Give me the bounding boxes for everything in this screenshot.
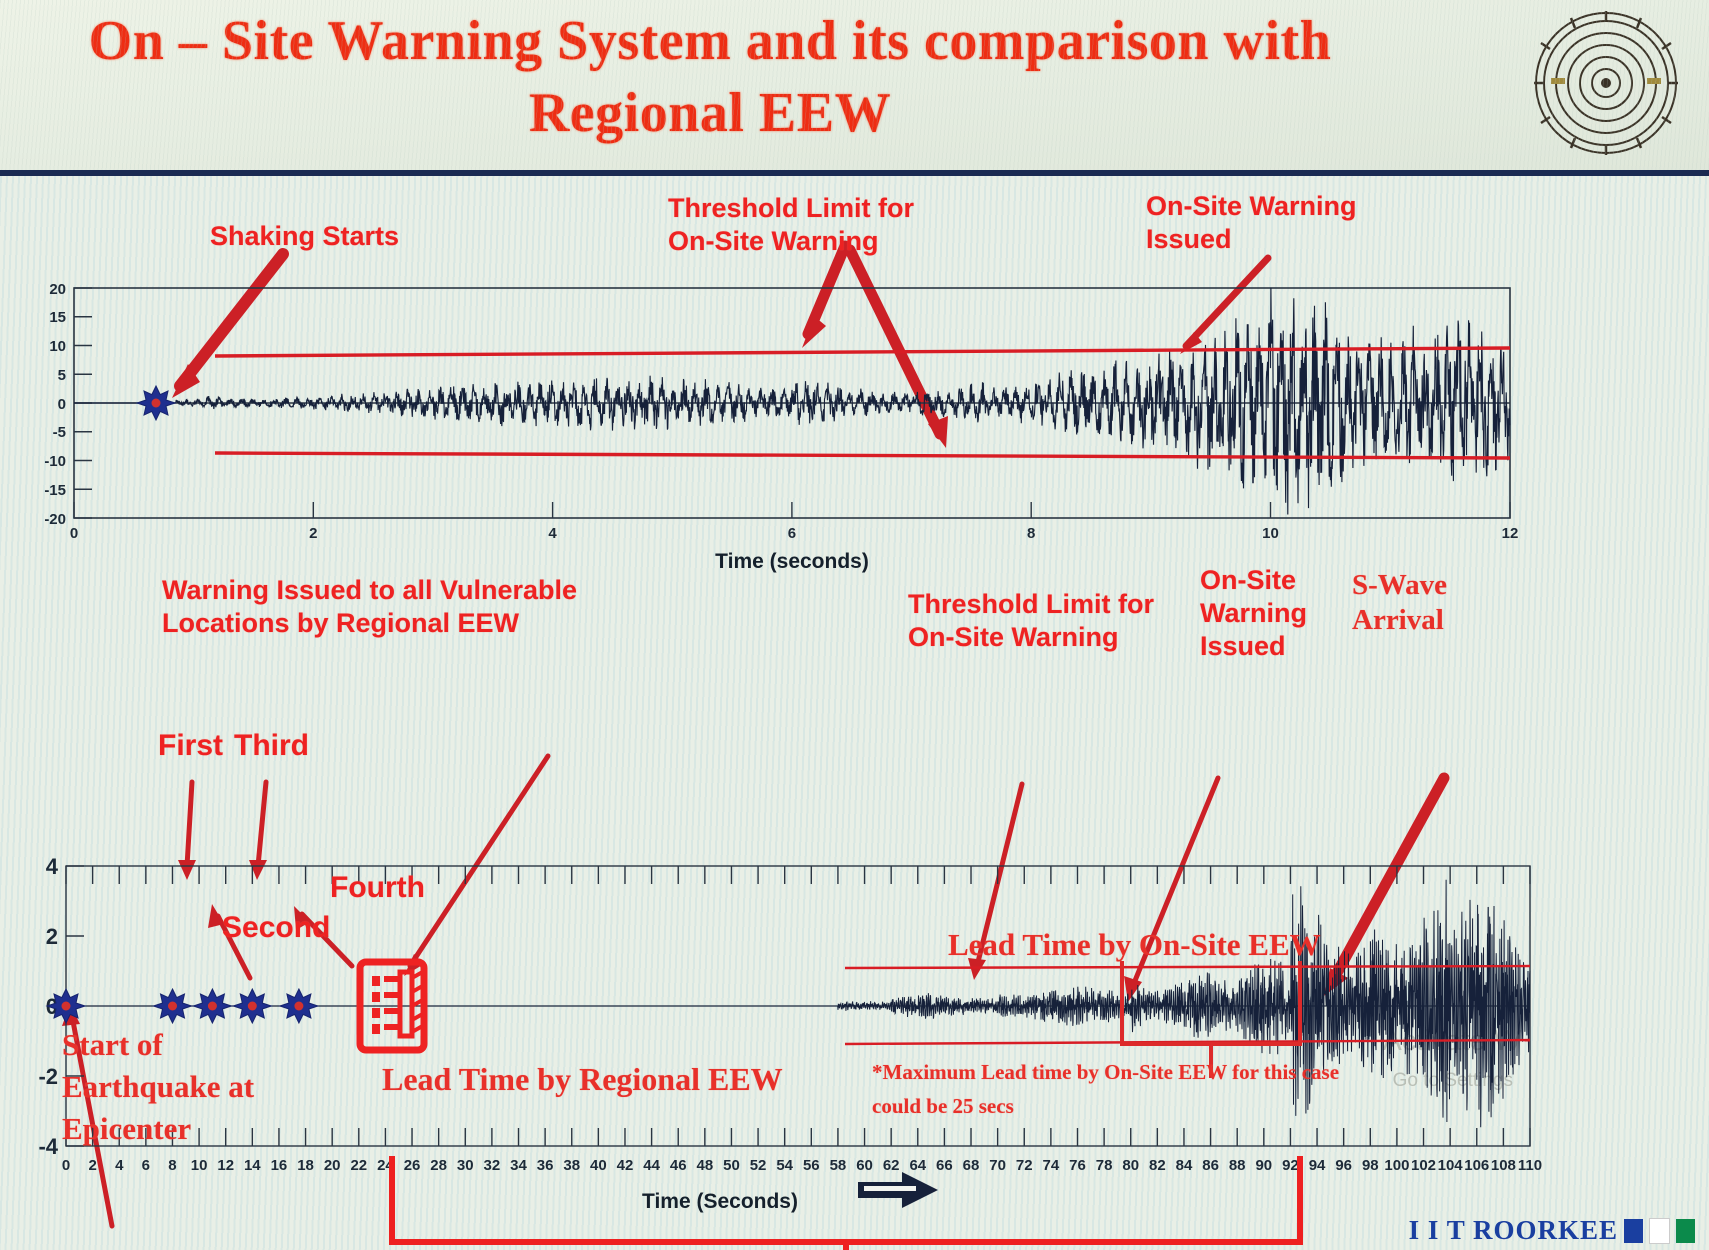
annotation-top-threshold-limit: Threshold Limit for On-Site Warning	[668, 192, 914, 258]
annotation-bottom-warning-issued: On-Site Warning Issued	[1200, 564, 1307, 663]
annotation-shaking-starts: Shaking Starts	[210, 220, 399, 253]
svg-text:62: 62	[883, 1157, 900, 1174]
svg-text:-5: -5	[53, 424, 66, 441]
svg-text:52: 52	[750, 1157, 767, 1174]
svg-text:108: 108	[1491, 1157, 1516, 1174]
svg-text:42: 42	[617, 1157, 634, 1174]
svg-text:80: 80	[1122, 1157, 1139, 1174]
svg-text:10: 10	[191, 1157, 208, 1174]
annotation-footnote: *Maximum Lead time by On-Site EEW for th…	[872, 1056, 1339, 1123]
footer-label: I I T ROORKEE	[1409, 1215, 1618, 1246]
svg-text:106: 106	[1464, 1157, 1489, 1174]
svg-text:4: 4	[46, 854, 59, 879]
svg-text:26: 26	[404, 1157, 421, 1174]
svg-text:66: 66	[936, 1157, 953, 1174]
bottom-x-axis-title: Time (Seconds)	[642, 1190, 798, 1213]
annotation-lead-time-regional: Lead Time by Regional EEW	[382, 1060, 783, 1099]
svg-text:28: 28	[430, 1157, 447, 1174]
svg-text:56: 56	[803, 1157, 820, 1174]
svg-text:20: 20	[324, 1157, 341, 1174]
svg-text:54: 54	[776, 1157, 793, 1174]
svg-text:64: 64	[909, 1157, 926, 1174]
svg-text:70: 70	[989, 1157, 1006, 1174]
svg-text:40: 40	[590, 1157, 607, 1174]
svg-text:16: 16	[271, 1157, 288, 1174]
svg-text:-4: -4	[38, 1134, 58, 1159]
arrow-top-threshold	[802, 246, 845, 348]
title-band: On – Site Warning System and its compari…	[0, 0, 1709, 176]
arrow-bottom-warning-issued	[1124, 778, 1218, 1002]
annotation-first: First	[158, 728, 223, 765]
svg-text:36: 36	[537, 1157, 554, 1174]
top-x-axis: 0 2 4 6 8 10 12 Time (seconds)	[70, 502, 1519, 573]
svg-text:15: 15	[49, 309, 66, 326]
svg-text:12: 12	[217, 1157, 234, 1174]
svg-text:82: 82	[1149, 1157, 1166, 1174]
svg-text:2: 2	[88, 1157, 96, 1174]
annotation-start-of-earthquake: Start of Earthquake at Epicenter	[62, 1024, 254, 1150]
annotation-bottom-threshold-limit: Threshold Limit for On-Site Warning	[908, 588, 1154, 654]
annotation-lead-time-onsite: Lead Time by On-Site EEW	[948, 926, 1321, 964]
marker-shaking-starts	[137, 386, 175, 420]
svg-text:76: 76	[1069, 1157, 1086, 1174]
footer-square-blue	[1624, 1219, 1643, 1243]
svg-text:5: 5	[58, 367, 66, 384]
annotation-third: Third	[234, 728, 309, 765]
svg-text:14: 14	[244, 1157, 261, 1174]
svg-text:104: 104	[1438, 1157, 1464, 1174]
svg-text:50: 50	[723, 1157, 740, 1174]
svg-text:0: 0	[70, 525, 78, 542]
svg-text:88: 88	[1229, 1157, 1246, 1174]
marker-fourth-station	[280, 989, 318, 1023]
arrow-third	[249, 782, 267, 880]
marker-third-station	[233, 989, 271, 1023]
svg-text:2: 2	[46, 924, 58, 949]
arrow-top-threshold-lower	[850, 250, 948, 448]
slide-body: Shaking Starts Threshold Limit for On-Si…	[0, 176, 1709, 1250]
svg-text:38: 38	[563, 1157, 580, 1174]
marker-first-station	[154, 989, 192, 1023]
annotation-top-warning-issued: On-Site Warning Issued	[1146, 190, 1357, 256]
svg-text:46: 46	[670, 1157, 687, 1174]
svg-text:86: 86	[1202, 1157, 1219, 1174]
svg-text:10: 10	[49, 338, 66, 355]
svg-text:98: 98	[1362, 1157, 1379, 1174]
svg-text:8: 8	[168, 1157, 176, 1174]
svg-text:0: 0	[58, 396, 66, 413]
arrow-shaking-starts	[172, 254, 283, 398]
svg-text:58: 58	[830, 1157, 847, 1174]
annotation-second: Second	[222, 910, 330, 947]
svg-text:12: 12	[1502, 525, 1519, 542]
svg-text:18: 18	[297, 1157, 314, 1174]
svg-text:-20: -20	[44, 511, 66, 528]
footer-square-white	[1649, 1218, 1670, 1244]
arrow-top-warning-issued	[1180, 258, 1268, 354]
iit-roorkee-logo-icon	[1531, 8, 1681, 158]
bottom-x-tick-labels: 0246810121416182022242628303234363840424…	[62, 1157, 1542, 1174]
svg-text:94: 94	[1309, 1157, 1326, 1174]
svg-text:34: 34	[510, 1157, 527, 1174]
svg-text:72: 72	[1016, 1157, 1033, 1174]
svg-text:6: 6	[788, 525, 796, 542]
svg-text:-10: -10	[44, 453, 66, 470]
svg-text:22: 22	[350, 1157, 367, 1174]
svg-text:100: 100	[1384, 1157, 1409, 1174]
annotation-regional-warning: Warning Issued to all Vulnerable Locatio…	[162, 574, 577, 640]
svg-text:-15: -15	[44, 482, 66, 499]
top-x-axis-title: Time (seconds)	[715, 550, 869, 573]
arrow-first	[178, 782, 196, 880]
marker-second-station	[193, 989, 231, 1023]
svg-text:60: 60	[856, 1157, 873, 1174]
time-direction-arrow-icon	[858, 1172, 938, 1208]
svg-text:20: 20	[49, 281, 66, 298]
svg-text:32: 32	[484, 1157, 501, 1174]
footer-iit-roorkee: I I T ROORKEE	[1409, 1215, 1695, 1246]
annotation-fourth: Fourth	[330, 870, 425, 907]
svg-text:78: 78	[1096, 1157, 1113, 1174]
svg-text:10: 10	[1262, 525, 1279, 542]
svg-text:-2: -2	[38, 1064, 58, 1089]
svg-text:4: 4	[548, 525, 557, 542]
svg-text:30: 30	[457, 1157, 474, 1174]
top-y-axis: 20 15 10 5 0 -5 -10 -15 -20	[44, 281, 92, 528]
svg-text:68: 68	[963, 1157, 980, 1174]
svg-text:96: 96	[1335, 1157, 1352, 1174]
svg-text:92: 92	[1282, 1157, 1299, 1174]
svg-text:102: 102	[1411, 1157, 1436, 1174]
svg-text:44: 44	[643, 1157, 660, 1174]
svg-text:4: 4	[115, 1157, 124, 1174]
top-threshold-lower	[215, 453, 1510, 458]
svg-text:8: 8	[1027, 525, 1035, 542]
svg-text:74: 74	[1043, 1157, 1060, 1174]
annotation-s-wave-arrival: S-Wave Arrival	[1352, 568, 1447, 639]
footer-square-green	[1676, 1219, 1695, 1243]
svg-text:0: 0	[62, 1157, 70, 1174]
svg-text:110: 110	[1518, 1157, 1542, 1174]
svg-text:2: 2	[309, 525, 317, 542]
slide-root: On – Site Warning System and its compari…	[0, 0, 1709, 1250]
svg-text:84: 84	[1176, 1157, 1193, 1174]
page-title: On – Site Warning System and its compari…	[0, 6, 1420, 149]
svg-text:48: 48	[696, 1157, 713, 1174]
svg-text:90: 90	[1255, 1157, 1272, 1174]
svg-text:6: 6	[142, 1157, 150, 1174]
